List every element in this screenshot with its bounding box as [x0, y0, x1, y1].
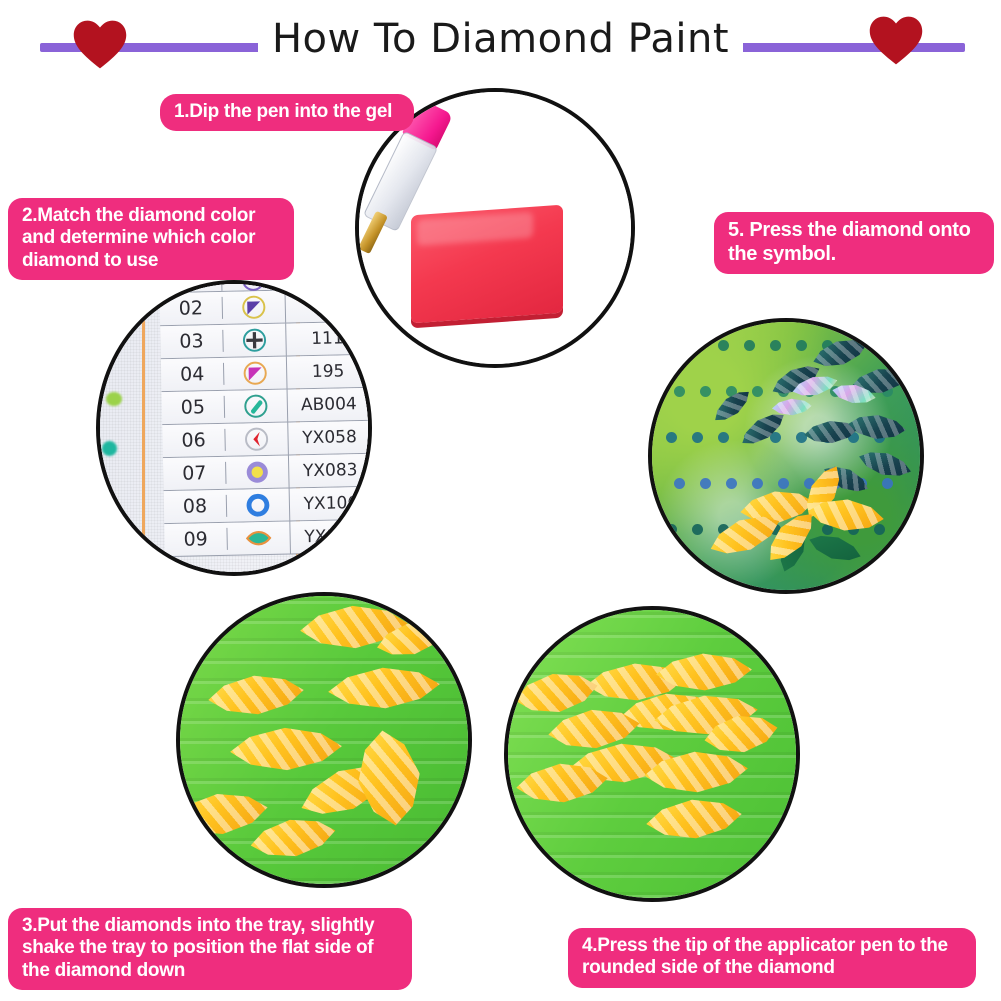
chart-row-number: 03: [160, 330, 223, 353]
infographic-canvas: How To Diamond Paint 1.Dip the pen into …: [0, 0, 1001, 1001]
printed-symbol-dot: [882, 478, 893, 489]
diagonal-bar-icon: [243, 393, 270, 420]
chart-row-number: 08: [164, 495, 227, 518]
diamond-gem: [247, 811, 339, 865]
step-4-photo: [504, 606, 800, 902]
step-2-label: 2.Match the diamond color and determine …: [8, 198, 294, 280]
color-chart-row: 06YX058: [162, 421, 371, 458]
chart-row-symbol: [225, 423, 289, 456]
chart-row-number: 06: [162, 429, 225, 452]
gel-pad: [411, 205, 563, 324]
chart-row-symbol: [224, 357, 288, 390]
chart-row-code: YX083: [289, 460, 371, 482]
diamond-gem: [229, 723, 343, 775]
color-chart-row: 02093: [159, 289, 368, 326]
chart-row-number: 04: [161, 363, 224, 386]
chart-row-number: 07: [163, 462, 226, 485]
printed-symbol-dot: [726, 478, 737, 489]
printed-symbol-dot: [770, 340, 781, 351]
printed-symbol-dot: [692, 432, 703, 443]
pen-tip-icon: [358, 211, 388, 254]
chart-row-symbol: [222, 280, 285, 291]
diamond-gem: [351, 722, 427, 834]
printed-symbol-dot: [752, 478, 763, 489]
chart-row-code: YX106: [290, 493, 372, 515]
step-5-label: 5. Press the diamond onto the symbol.: [714, 212, 994, 274]
printed-symbol-blob: [102, 441, 117, 456]
printed-symbol-dot: [796, 340, 807, 351]
diamond-gem: [809, 332, 870, 374]
color-chart-row: 09YX125: [164, 520, 372, 557]
left-chevron-icon: [243, 426, 270, 453]
printed-symbol-dot: [796, 432, 807, 443]
pen-barrel: [504, 606, 557, 685]
printed-symbol-dot: [752, 386, 763, 397]
chart-row-code: 02…: [285, 280, 367, 289]
chart-row-symbol: [227, 522, 291, 555]
printed-symbol-dot: [874, 524, 885, 535]
chart-row-number: 05: [162, 396, 225, 419]
chart-row-number: 01: [159, 280, 222, 292]
chart-row-code: 093: [286, 295, 368, 317]
printed-symbol-dot: [692, 524, 703, 535]
chart-row-code: 195: [287, 361, 369, 383]
plus-icon: [241, 327, 268, 354]
chart-row-symbol: [225, 390, 289, 423]
color-chart-row: 05AB004: [162, 388, 371, 425]
diamond-gem: [771, 397, 812, 418]
page-title-text: How To Diamond Paint: [258, 16, 743, 62]
leaf-icon: [245, 525, 272, 552]
printed-symbol-dot: [666, 340, 677, 351]
printed-symbol-dot: [718, 340, 729, 351]
diamond-gem: [327, 662, 442, 714]
printed-symbol-dot: [744, 340, 755, 351]
chart-row-symbol: [223, 324, 287, 357]
color-chart-row: 08YX106: [164, 487, 372, 524]
ring-icon: [245, 492, 272, 519]
diamond-gem: [176, 786, 271, 843]
printed-symbol-dot: [874, 340, 885, 351]
chart-row-symbol: [227, 489, 291, 522]
chart-row-symbol: [226, 456, 290, 489]
chart-row-number: 02: [160, 297, 223, 320]
step-3-label: 3.Put the diamonds into the tray, slight…: [8, 908, 412, 990]
color-chart-table: 0102…02093031110419505AB00406YX05807YX08…: [159, 280, 372, 557]
printed-symbol-dot: [778, 478, 789, 489]
printed-symbol-dot: [700, 478, 711, 489]
printed-symbol-dot: [700, 386, 711, 397]
step-5-photo: [648, 318, 924, 594]
chart-row-symbol: [222, 291, 286, 324]
color-chart-row: 04195: [161, 355, 370, 392]
chart-row-code: AB004: [288, 394, 370, 416]
printed-symbol-dot: [674, 386, 685, 397]
chart-row-number: 09: [164, 528, 227, 551]
color-chart-row: 07YX083: [163, 454, 372, 491]
step-4-label: 4.Press the tip of the applicator pen to…: [568, 928, 976, 988]
step-2-photo: 0102…02093031110419505AB00406YX05807YX08…: [96, 280, 372, 576]
diamond-gem: [644, 793, 744, 845]
step-3-photo: [176, 592, 472, 888]
diamond-gem: [206, 669, 306, 721]
step-1-label: 1.Dip the pen into the gel: [160, 94, 414, 131]
printed-symbol-dot: [692, 340, 703, 351]
ring-dot-icon: [244, 459, 271, 486]
printed-symbol-dot: [674, 478, 685, 489]
printed-symbol-dot: [666, 524, 677, 535]
chart-row-code: YX125: [290, 526, 372, 548]
printed-symbol-dot: [718, 432, 729, 443]
color-chart-row: 03111: [160, 322, 369, 359]
canvas-guide-line: [142, 280, 145, 576]
chart-row-code: YX058: [288, 427, 370, 449]
triangle-icon: [242, 360, 269, 387]
triangle-icon: [241, 294, 268, 321]
printed-symbol-blob: [106, 392, 122, 406]
chart-row-code: 111: [286, 328, 368, 350]
printed-symbol-dot: [666, 432, 677, 443]
page-title: How To Diamond Paint: [0, 16, 1001, 62]
